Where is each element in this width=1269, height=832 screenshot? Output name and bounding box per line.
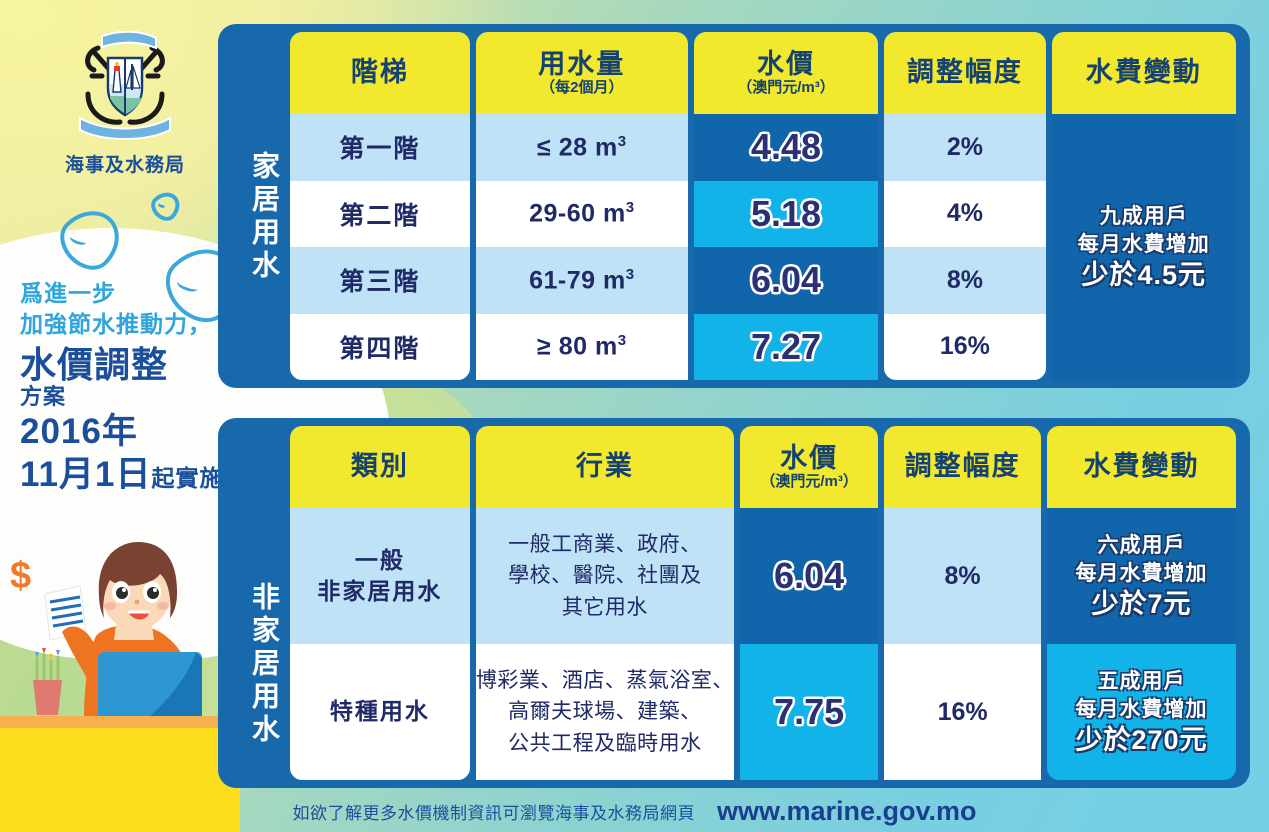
cell-price-value: 6.04 <box>751 259 821 300</box>
slogan-date-value: 11月1日 <box>20 455 151 494</box>
cell-usage-value: ≤ 28 m <box>537 133 618 161</box>
cell-usage-exponent: 3 <box>626 266 635 283</box>
col-header-adjustment-title: 調整幅度 <box>884 452 1041 481</box>
fee-change-line-3: 少於7元 <box>1047 588 1236 620</box>
cell-price-value: 6.04 <box>774 555 844 596</box>
col-header-industry-title: 行業 <box>476 452 734 481</box>
cell-adjustment: 2% <box>884 114 1045 181</box>
cell-usage-exponent: 3 <box>626 199 635 216</box>
col-header-category: 類別 <box>290 426 470 508</box>
slogan-date-suffix: 起實施 <box>151 465 223 491</box>
col-header-price: 水價 （澳門元/m³） <box>740 426 878 508</box>
domestic-water-table: 階梯 用水量 （每2個月） 水價 （澳門元/m³） 調整幅度 水費變動 <box>284 32 1242 380</box>
cell-fee-change: 五成用戶 每月水費增加 少於270元 <box>1047 644 1236 780</box>
domestic-water-table-wrapper: 階梯 用水量 （每2個月） 水價 （澳門元/m³） 調整幅度 水費變動 <box>284 32 1242 380</box>
table-row: 特種用水 博彩業、酒店、蒸氣浴室、 高爾夫球場、建築、 公共工程及臨時用水 7.… <box>290 644 1236 780</box>
slogan-line-1: 爲進一步 <box>20 278 223 309</box>
cell-usage-exponent: 3 <box>618 332 627 349</box>
fee-change-line-2: 每月水費增加 <box>1052 231 1236 259</box>
fee-change-line-1: 五成用戶 <box>1047 668 1236 696</box>
cell-step: 第四階 <box>290 314 470 381</box>
cell-price: 7.75 <box>740 644 878 780</box>
col-header-change: 水費變動 <box>1047 426 1236 508</box>
fee-change-line-2: 每月水費增加 <box>1047 560 1236 588</box>
cell-category: 一般 非家居用水 <box>290 508 470 644</box>
cell-usage: ≤ 28 m3 <box>476 114 688 181</box>
col-header-change-title: 水費變動 <box>1047 452 1236 481</box>
slogan-year: 2016年 <box>20 410 223 454</box>
cell-price-value: 7.75 <box>774 691 844 732</box>
woman-with-laptop-illustration: $ <box>0 540 235 740</box>
slogan-headline-sub: 方案 <box>20 385 223 409</box>
cell-price: 4.48 <box>694 114 878 181</box>
cell-usage-value: 61-79 m <box>529 266 626 294</box>
laptop-icon <box>98 652 202 716</box>
col-header-price: 水價 （澳門元/m³） <box>694 32 878 114</box>
col-header-change-title: 水費變動 <box>1052 58 1236 87</box>
fee-change-line-2: 每月水費增加 <box>1047 696 1236 724</box>
cell-usage-value: ≥ 80 m <box>537 332 618 360</box>
col-header-price-sub: （澳門元/m³） <box>694 80 878 96</box>
cell-usage-exponent: 3 <box>618 133 627 150</box>
svg-text:$: $ <box>10 555 31 597</box>
col-header-price-sub: （澳門元/m³） <box>740 474 878 490</box>
fee-change-line-1: 六成用戶 <box>1047 532 1236 560</box>
cell-step: 第三階 <box>290 247 470 314</box>
col-header-step-title: 階梯 <box>290 58 470 87</box>
cell-adjustment: 8% <box>884 508 1041 644</box>
organization-logo: 海事及水務局 <box>60 22 190 177</box>
non-domestic-water-panel: 非家居用水 類別 行業 水價 （澳門元/m³） <box>218 418 1250 788</box>
cell-price: 6.04 <box>740 508 878 644</box>
cell-fee-change: 六成用戶 每月水費增加 少於7元 <box>1047 508 1236 644</box>
fee-change-line-1: 九成用戶 <box>1052 203 1236 231</box>
col-header-industry: 行業 <box>476 426 734 508</box>
cell-fee-change: 九成用戶 每月水費增加 少於4.5元 <box>1052 114 1236 380</box>
panel2-side-label: 非家居用水 <box>218 418 284 788</box>
cell-adjustment: 16% <box>884 314 1045 381</box>
fee-change-line-3: 少於4.5元 <box>1052 259 1236 291</box>
cell-price-value: 7.27 <box>751 326 821 367</box>
cell-price: 5.18 <box>694 181 878 248</box>
col-header-usage-sub: （每2個月） <box>476 80 688 96</box>
col-header-adjustment: 調整幅度 <box>884 426 1041 508</box>
table-row: 一般 非家居用水 一般工商業、政府、 學校、醫院、社團及 其它用水 6.04 8… <box>290 508 1236 644</box>
col-header-usage: 用水量 （每2個月） <box>476 32 688 114</box>
col-header-change: 水費變動 <box>1052 32 1236 114</box>
col-header-usage-title: 用水量 <box>476 50 688 79</box>
cell-step: 第一階 <box>290 114 470 181</box>
table-header-row: 類別 行業 水價 （澳門元/m³） 調整幅度 水費變動 <box>290 426 1236 508</box>
cell-adjustment: 8% <box>884 247 1045 314</box>
cell-industry: 博彩業、酒店、蒸氣浴室、 高爾夫球場、建築、 公共工程及臨時用水 <box>476 644 734 780</box>
footer-note: 如欲了解更多水價機制資訊可瀏覽海事及水務局網頁 <box>292 799 695 824</box>
table-row: 第一階 ≤ 28 m3 4.48 2% 九成用戶 每月水費增加 少於4.5元 <box>290 114 1236 181</box>
col-header-price-title: 水價 <box>694 50 878 79</box>
col-header-adjustment-title: 調整幅度 <box>884 58 1045 87</box>
website-link[interactable]: www.marine.gov.mo <box>717 796 977 827</box>
marine-authority-crest-icon <box>64 22 186 144</box>
footer: 如欲了解更多水價機制資訊可瀏覽海事及水務局網頁 www.marine.gov.m… <box>0 790 1269 832</box>
cell-usage-value: 29-60 m <box>529 199 626 227</box>
slogan-headline: 水價調整 <box>20 344 223 386</box>
cell-adjustment: 4% <box>884 181 1045 248</box>
col-header-adjustment: 調整幅度 <box>884 32 1045 114</box>
cell-usage: ≥ 80 m3 <box>476 314 688 381</box>
cell-adjustment: 16% <box>884 644 1041 780</box>
fee-change-line-3: 少於270元 <box>1047 724 1236 756</box>
panel1-side-label: 家居用水 <box>218 24 284 388</box>
cell-price-value: 5.18 <box>751 193 821 234</box>
cell-step: 第二階 <box>290 181 470 248</box>
slogan-block: 爲進一步 加強節水推動力， 水價調整 方案 2016年 11月1日起實施 <box>20 278 223 496</box>
slogan-line-2: 加強節水推動力， <box>20 309 223 340</box>
cell-category: 特種用水 <box>290 644 470 780</box>
col-header-category-title: 類別 <box>290 452 470 481</box>
non-domestic-water-table: 類別 行業 水價 （澳門元/m³） 調整幅度 水費變動 <box>284 426 1242 780</box>
table-header-row: 階梯 用水量 （每2個月） 水價 （澳門元/m³） 調整幅度 水費變動 <box>290 32 1236 114</box>
domestic-water-panel: 家居用水 階梯 用水量 （每2個月） 水價 （澳門元/m³） <box>218 24 1250 388</box>
cell-usage: 61-79 m3 <box>476 247 688 314</box>
cell-price: 6.04 <box>694 247 878 314</box>
pencil-cup-icon <box>33 648 62 715</box>
slogan-date: 11月1日起實施 <box>20 454 223 496</box>
cell-price-value: 4.48 <box>751 126 821 167</box>
non-domestic-water-table-wrapper: 類別 行業 水價 （澳門元/m³） 調整幅度 水費變動 <box>284 426 1242 780</box>
cell-industry: 一般工商業、政府、 學校、醫院、社團及 其它用水 <box>476 508 734 644</box>
cell-price: 7.27 <box>694 314 878 381</box>
cell-usage: 29-60 m3 <box>476 181 688 248</box>
col-header-price-title: 水價 <box>740 444 878 473</box>
organization-name: 海事及水務局 <box>60 150 190 177</box>
dollar-sign-icon: $ <box>10 555 31 597</box>
col-header-step: 階梯 <box>290 32 470 114</box>
